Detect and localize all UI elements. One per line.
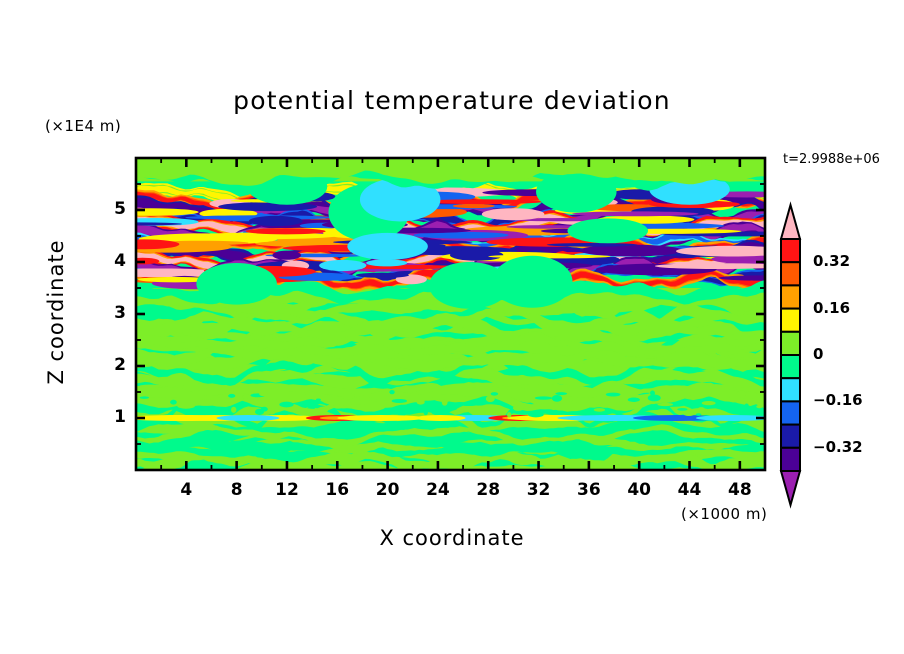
x-tick-label: 24	[418, 480, 458, 500]
colorbar-tick-label: −0.16	[813, 391, 863, 409]
x-tick-label: 28	[468, 480, 508, 500]
colorbar	[781, 205, 800, 505]
figure-canvas: potential temperature deviation (×1E4 m)…	[0, 0, 904, 654]
colorbar-tick-label: −0.32	[813, 438, 863, 456]
x-tick-label: 36	[569, 480, 609, 500]
x-tick-label: 12	[267, 480, 307, 500]
x-tick-label: 44	[670, 480, 710, 500]
x-tick-label: 32	[519, 480, 559, 500]
field-layer	[84, 149, 807, 474]
colorbar-tick-label: 0.32	[813, 252, 850, 270]
y-tick-label: 1	[96, 407, 126, 427]
y-tick-label: 3	[96, 303, 126, 323]
x-tick-label: 8	[217, 480, 257, 500]
x-tick-label: 20	[368, 480, 408, 500]
contour-plot	[0, 0, 904, 654]
y-tick-label: 4	[96, 251, 126, 271]
x-tick-label: 4	[166, 480, 206, 500]
colorbar-tick-label: 0.16	[813, 299, 850, 317]
colorbar-tick-label: 0	[813, 345, 823, 363]
x-tick-label: 48	[720, 480, 760, 500]
y-tick-label: 5	[96, 199, 126, 219]
x-tick-label: 40	[619, 480, 659, 500]
y-tick-label: 2	[96, 355, 126, 375]
x-tick-label: 16	[317, 480, 357, 500]
